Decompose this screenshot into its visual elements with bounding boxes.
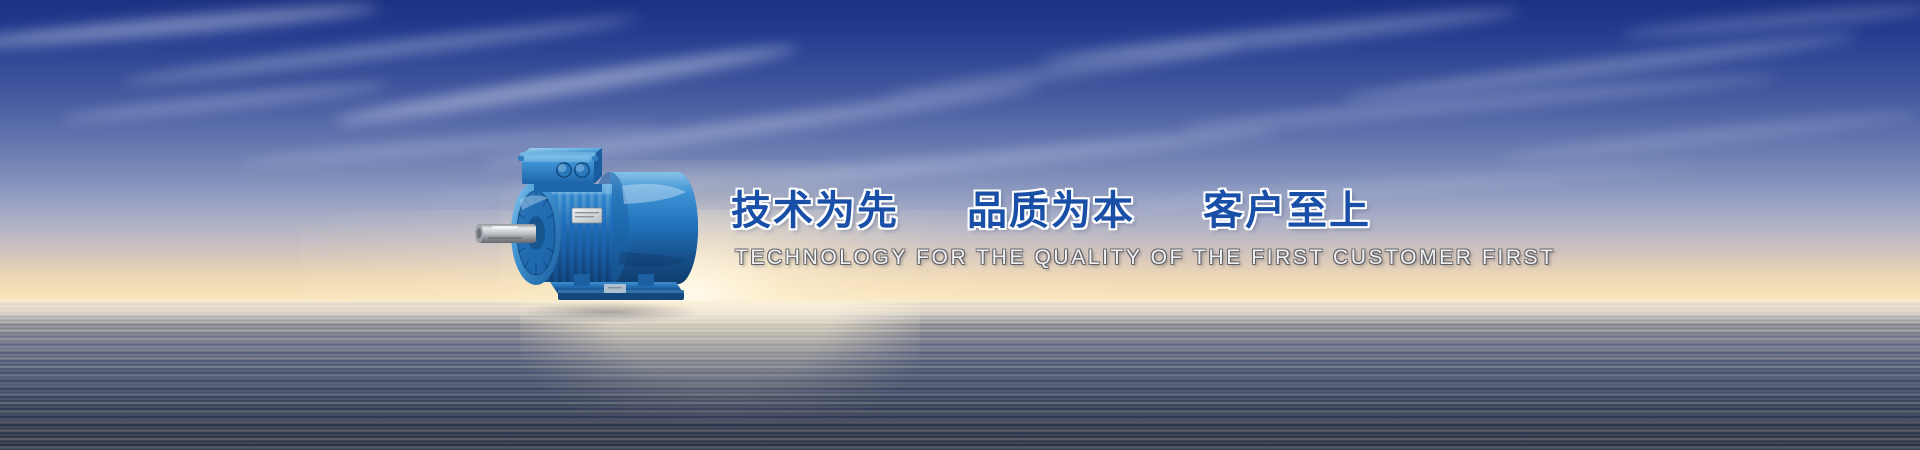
motor-drive-shaft bbox=[475, 224, 536, 243]
sun-reflection-path bbox=[520, 302, 920, 450]
water-ripples-coarse bbox=[0, 302, 1920, 450]
sea-background bbox=[0, 302, 1920, 450]
motor-terminal-box bbox=[518, 148, 602, 184]
motor-shadow bbox=[516, 301, 700, 322]
slogan-phrase-1: 技术为先 bbox=[731, 178, 899, 236]
subtitle-english: TECHNOLOGY FOR THE QUALITY OF THE FIRST … bbox=[735, 246, 1556, 270]
motor-nameplate bbox=[572, 208, 602, 223]
slogan-phrase-2: 品质为本 bbox=[967, 178, 1135, 236]
slogan-phrase-3: 客户至上 bbox=[1203, 178, 1371, 236]
electric-motor-image bbox=[462, 132, 732, 322]
headline-slogans: 技术为先 品质为本 客户至上 bbox=[731, 178, 1371, 236]
hero-banner: 技术为先 品质为本 客户至上 TECHNOLOGY FOR THE QUALIT… bbox=[0, 0, 1920, 450]
